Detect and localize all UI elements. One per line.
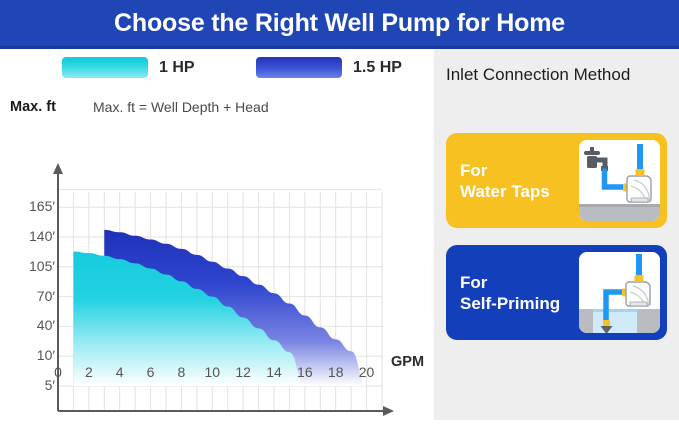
card-self-priming-line1: For <box>460 272 487 291</box>
card-water-taps[interactable]: For Water Taps <box>446 133 667 228</box>
y-axis-tick-105: 105′ <box>0 258 55 274</box>
chart-series <box>73 230 366 386</box>
inlet-connection-panel: Inlet Connection Method For Water Taps <box>434 49 679 420</box>
x-axis-tick-20: 20 <box>355 364 379 380</box>
y-axis-tick-165: 165′ <box>0 198 55 214</box>
x-axis-tick-8: 8 <box>169 364 193 380</box>
card-water-taps-line1: For <box>460 160 487 179</box>
x-axis-tick-0: 0 <box>46 364 70 380</box>
card-self-priming[interactable]: For Self-Priming <box>446 245 667 340</box>
x-axis-tick-10: 10 <box>200 364 224 380</box>
page-title: Choose the Right Well Pump for Home <box>114 11 565 36</box>
x-axis-tick-12: 12 <box>231 364 255 380</box>
header-banner: Choose the Right Well Pump for Home <box>0 0 679 46</box>
card-self-priming-label: For Self-Priming <box>460 271 560 314</box>
x-axis-title: GPM <box>391 354 424 370</box>
plot-area: 5′10′40′70′105′140′165′ 0246810121416182… <box>0 49 430 420</box>
x-axis-tick-18: 18 <box>324 364 348 380</box>
x-axis-tick-16: 16 <box>293 364 317 380</box>
infographic-root: Choose the Right Well Pump for Home 1 HP… <box>0 0 679 420</box>
y-axis-tick-10: 10′ <box>0 347 55 363</box>
y-axis-tick-70: 70′ <box>0 288 55 304</box>
panel-title: Inlet Connection Method <box>446 65 671 85</box>
card-self-priming-line2: Self-Priming <box>460 294 560 313</box>
chart-region: 1 HP 1.5 HP Max. ft Max. ft = Well Depth… <box>0 49 430 420</box>
faucet-pump-icon <box>579 140 660 221</box>
x-axis-tick-6: 6 <box>139 364 163 380</box>
y-axis-tick-40: 40′ <box>0 317 55 333</box>
well-pump-icon <box>579 252 660 333</box>
card-water-taps-line2: Water Taps <box>460 182 550 201</box>
x-axis-tick-4: 4 <box>108 364 132 380</box>
y-axis-tick-140: 140′ <box>0 228 55 244</box>
card-water-taps-label: For Water Taps <box>460 159 550 202</box>
x-axis-tick-14: 14 <box>262 364 286 380</box>
x-axis-tick-2: 2 <box>77 364 101 380</box>
